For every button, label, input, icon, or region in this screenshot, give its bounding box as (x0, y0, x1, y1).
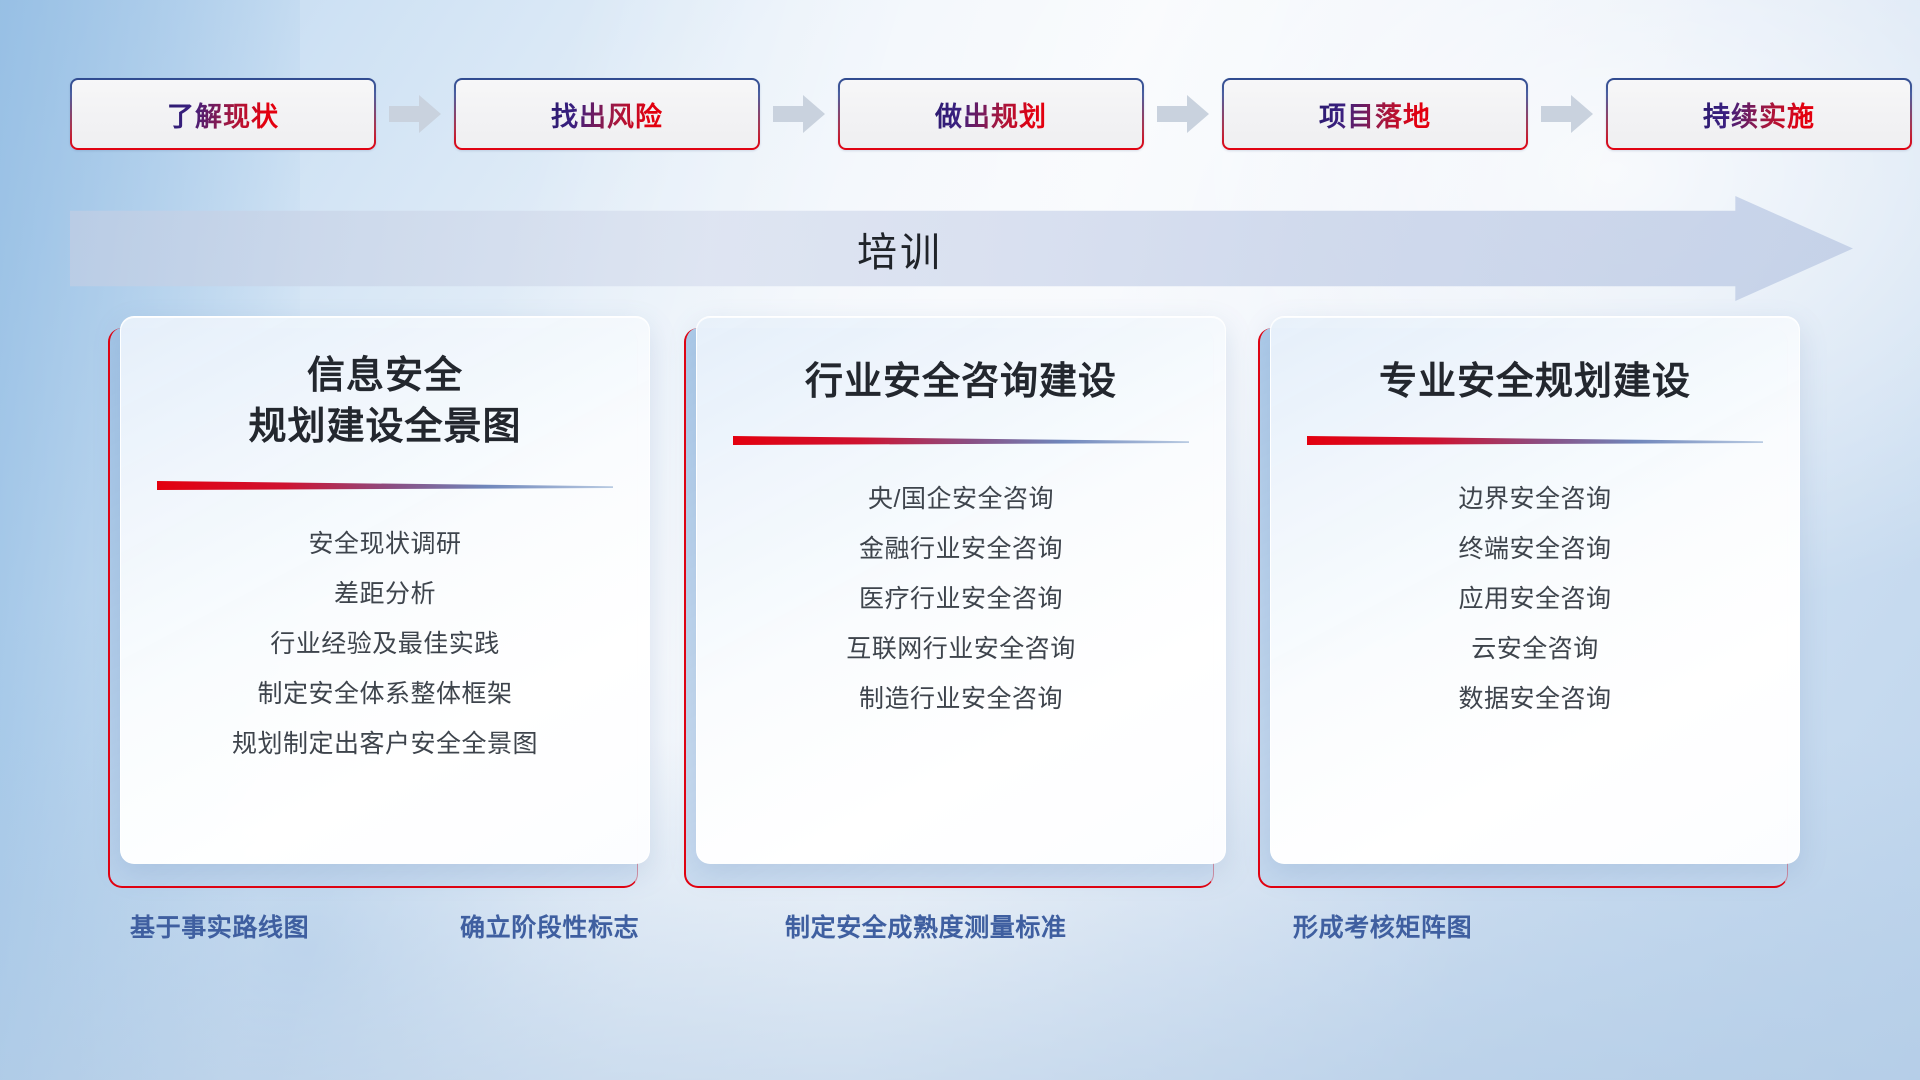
card-divider-2 (733, 434, 1189, 448)
card-wrapper-1: 信息安全 规划建设全景图 安全现状调研 (108, 328, 638, 888)
step-box-1[interactable]: 了解现状 (70, 78, 376, 150)
card-2[interactable]: 行业安全咨询建设 央/国企安全咨询 (696, 316, 1226, 864)
list-item: 终端安全咨询 (1458, 524, 1611, 574)
step-label-2: 找出风险 (551, 95, 663, 134)
card-title-1: 信息安全 规划建设全景图 (248, 351, 521, 453)
list-item: 央/国企安全咨询 (868, 474, 1054, 524)
card-wrapper-2: 行业安全咨询建设 央/国企安全咨询 (684, 328, 1214, 888)
step-label-4: 项目落地 (1319, 95, 1431, 134)
arrow-right-icon (1541, 94, 1593, 134)
card-divider-1 (157, 479, 613, 493)
step-label-5: 持续实施 (1703, 95, 1815, 134)
list-item: 安全现状调研 (308, 519, 461, 569)
list-item: 应用安全咨询 (1458, 574, 1611, 624)
card-wrapper-3: 专业安全规划建设 边界安全咨询 (1258, 328, 1788, 888)
card-1[interactable]: 信息安全 规划建设全景图 安全现状调研 (120, 316, 650, 864)
step-box-2[interactable]: 找出风险 (454, 78, 760, 150)
card-3[interactable]: 专业安全规划建设 边界安全咨询 (1270, 316, 1800, 864)
step-box-2-inner: 找出风险 (456, 80, 758, 148)
list-item: 云安全咨询 (1471, 624, 1599, 674)
list-item: 差距分析 (334, 569, 436, 619)
bottom-label-3: 制定安全成熟度测量标准 (785, 908, 1067, 944)
list-item: 数据安全咨询 (1458, 674, 1611, 724)
step-label-3: 做出规划 (935, 95, 1047, 134)
bottom-label-1: 基于事实路线图 (130, 908, 309, 944)
list-item: 制造行业安全咨询 (859, 674, 1063, 724)
arrow-right-icon (773, 94, 825, 134)
list-item: 医疗行业安全咨询 (859, 574, 1063, 624)
list-item: 边界安全咨询 (1458, 474, 1611, 524)
step-box-5[interactable]: 持续实施 (1606, 78, 1912, 150)
list-item: 互联网行业安全咨询 (846, 624, 1076, 674)
step-box-1-inner: 了解现状 (72, 80, 374, 148)
step-box-5-inner: 持续实施 (1608, 80, 1910, 148)
step-box-4[interactable]: 项目落地 (1222, 78, 1528, 150)
training-banner-label: 培训 (70, 196, 1730, 301)
step-box-3-inner: 做出规划 (840, 80, 1142, 148)
step-label-1: 了解现状 (167, 95, 279, 134)
list-item: 规划制定出客户安全全景图 (232, 719, 538, 769)
list-item: 制定安全体系整体框架 (257, 669, 512, 719)
bottom-label-4: 形成考核矩阵图 (1293, 908, 1472, 944)
arrow-right-icon (389, 94, 441, 134)
step-box-4-inner: 项目落地 (1224, 80, 1526, 148)
card-divider-3 (1307, 434, 1763, 448)
list-item: 金融行业安全咨询 (859, 524, 1063, 574)
process-step-row: 了解现状 找出风险 做出规划 项目落地 (70, 78, 1850, 150)
card-row: 信息安全 规划建设全景图 安全现状调研 (0, 328, 1920, 888)
list-item: 行业经验及最佳实践 (270, 619, 500, 669)
training-banner: 培训 (70, 196, 1853, 301)
card-list-3: 边界安全咨询 终端安全咨询 应用安全咨询 云安全咨询 数据安全咨询 (1271, 474, 1799, 724)
step-box-3[interactable]: 做出规划 (838, 78, 1144, 150)
bottom-label-2: 确立阶段性标志 (460, 908, 639, 944)
card-list-2: 央/国企安全咨询 金融行业安全咨询 医疗行业安全咨询 互联网行业安全咨询 制造行… (697, 474, 1225, 724)
card-title-2: 行业安全咨询建设 (805, 357, 1117, 408)
card-list-1: 安全现状调研 差距分析 行业经验及最佳实践 制定安全体系整体框架 规划制定出客户… (121, 519, 649, 769)
card-title-3: 专业安全规划建设 (1379, 357, 1691, 408)
bottom-label-row: 基于事实路线图 确立阶段性标志 制定安全成熟度测量标准 形成考核矩阵图 (0, 908, 1920, 968)
arrow-right-icon (1157, 94, 1209, 134)
